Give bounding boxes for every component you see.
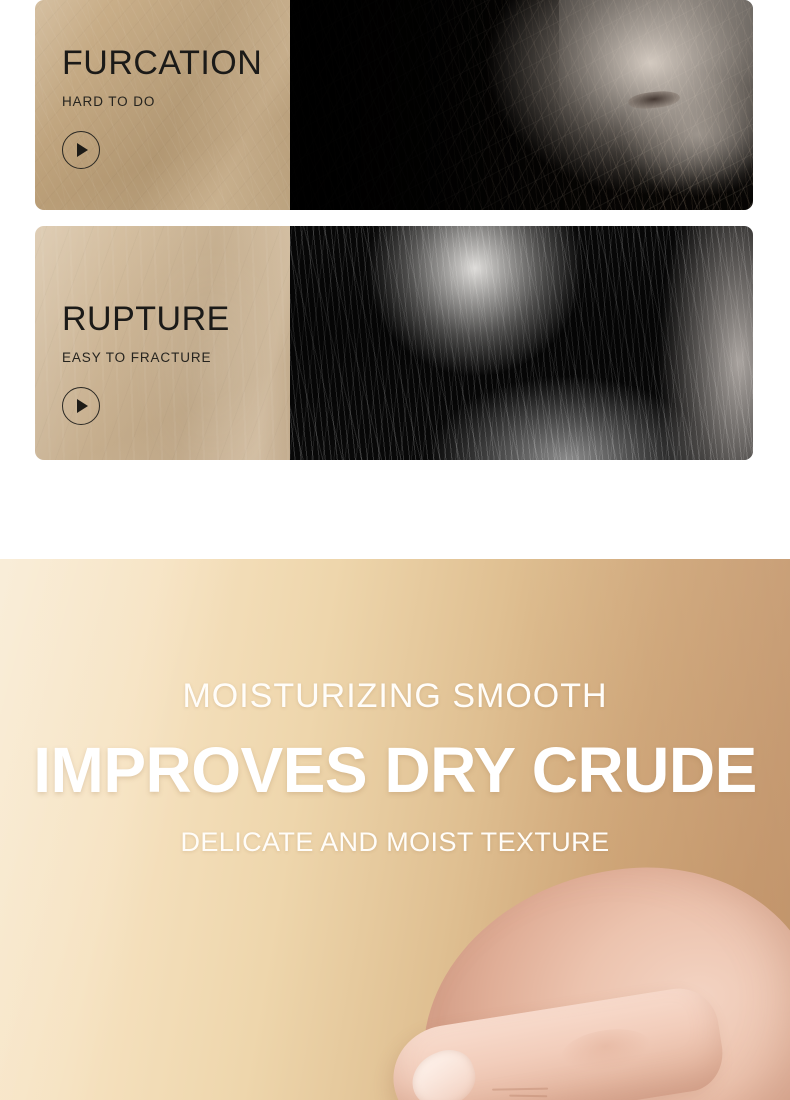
card-photo-furcation (290, 0, 753, 210)
hero-headline: IMPROVES DRY CRUDE (0, 733, 790, 807)
feature-card-furcation[interactable]: FURCATION HARD TO DO (35, 0, 753, 210)
play-button[interactable] (62, 387, 100, 425)
photo-vignette (290, 226, 753, 460)
hero-copy: MOISTURIZING SMOOTH IMPROVES DRY CRUDE D… (0, 559, 790, 858)
hero-kicker: MOISTURIZING SMOOTH (0, 677, 790, 716)
fingernail-shape (404, 1042, 483, 1100)
card-subtitle: HARD TO DO (62, 94, 290, 109)
play-button[interactable] (62, 131, 100, 169)
card-subtitle: EASY TO FRACTURE (62, 350, 290, 365)
card-title: RUPTURE (62, 302, 290, 336)
finger-shape (386, 983, 728, 1100)
skin-crease (509, 1095, 547, 1098)
card-title: FURCATION (62, 46, 290, 80)
play-icon (77, 143, 88, 157)
play-icon (77, 399, 88, 413)
card-text-panel: FURCATION HARD TO DO (35, 0, 290, 210)
skin-crease (492, 1088, 548, 1091)
hand-illustration (350, 840, 790, 1100)
photo-vignette (290, 0, 753, 210)
knuckle-shading (558, 1023, 653, 1077)
feature-card-rupture[interactable]: RUPTURE EASY TO FRACTURE (35, 226, 753, 460)
hero-banner: MOISTURIZING SMOOTH IMPROVES DRY CRUDE D… (0, 559, 790, 1100)
card-photo-rupture (290, 226, 753, 460)
palm-shape (405, 850, 790, 1100)
hero-tagline: DELICATE AND MOIST TEXTURE (0, 827, 790, 858)
card-text-panel: RUPTURE EASY TO FRACTURE (35, 226, 290, 460)
product-detail-page: FURCATION HARD TO DO RUPTURE EASY TO FRA… (0, 0, 790, 1100)
